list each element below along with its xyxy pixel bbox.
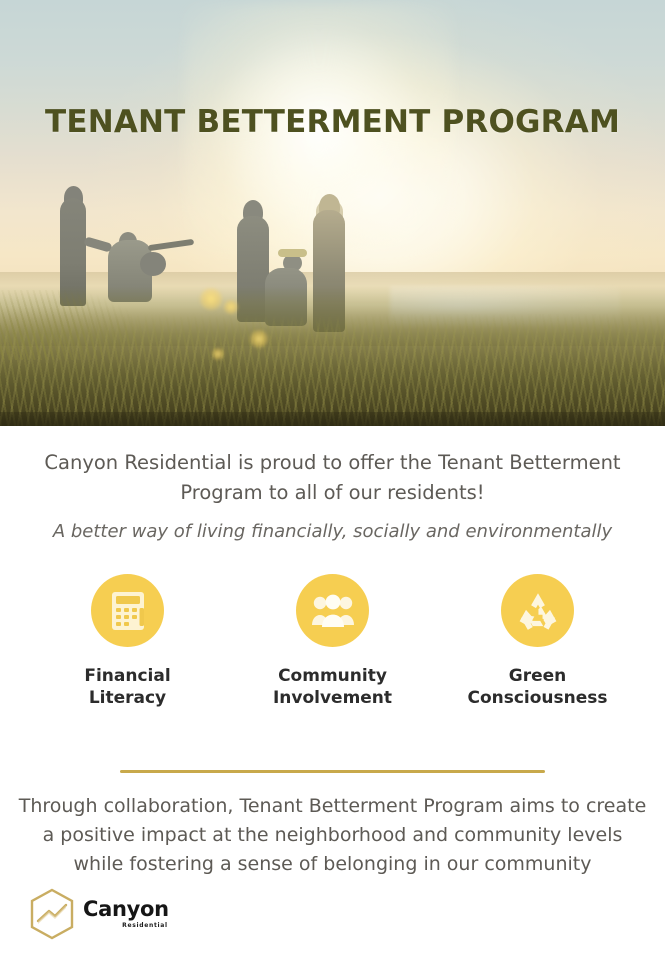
- feature-label: Financial Literacy: [84, 665, 170, 709]
- calculator-icon: [110, 591, 146, 631]
- intro-paragraph: Canyon Residential is proud to offer the…: [0, 448, 665, 508]
- hero-bottom-edge: [0, 412, 665, 426]
- feature-financial-literacy: Financial Literacy: [25, 574, 230, 709]
- lens-flare: [250, 330, 268, 348]
- lens-flare: [212, 348, 224, 360]
- feature-community-involvement: Community Involvement: [230, 574, 435, 709]
- logo-name: Canyon: [83, 899, 169, 920]
- feature-green-consciousness: Green Consciousness: [435, 574, 640, 709]
- recycle-icon: [517, 590, 559, 632]
- feature-icon-badge: [501, 574, 574, 647]
- poster: TENANT BETTERMENT PROGRAM Canyon Residen…: [0, 0, 665, 960]
- people-group-icon: [311, 592, 355, 630]
- canyon-hexagon-icon: [28, 888, 76, 940]
- feature-label: Community Involvement: [273, 665, 392, 709]
- logo-subtitle: Residential: [122, 923, 168, 929]
- divider: [120, 770, 545, 773]
- logo-text: Canyon Residential: [83, 899, 169, 929]
- feature-icon-badge: [91, 574, 164, 647]
- feature-label: Green Consciousness: [467, 665, 607, 709]
- canyon-logo: Canyon Residential: [28, 888, 169, 940]
- features-row: Financial Literacy Co: [0, 574, 665, 709]
- tagline: A better way of living financially, soci…: [0, 519, 665, 545]
- lens-flare: [224, 300, 238, 314]
- silhouette-hat: [278, 249, 307, 257]
- hero-grass-tufts: [0, 290, 140, 360]
- feature-icon-badge: [296, 574, 369, 647]
- guitar-body: [140, 252, 166, 276]
- page-title: TENANT BETTERMENT PROGRAM: [0, 104, 665, 140]
- content-section: Canyon Residential is proud to offer the…: [0, 426, 665, 960]
- closing-paragraph: Through collaboration, Tenant Betterment…: [0, 792, 665, 879]
- hero-image: TENANT BETTERMENT PROGRAM: [0, 0, 665, 426]
- lens-flare: [200, 288, 222, 310]
